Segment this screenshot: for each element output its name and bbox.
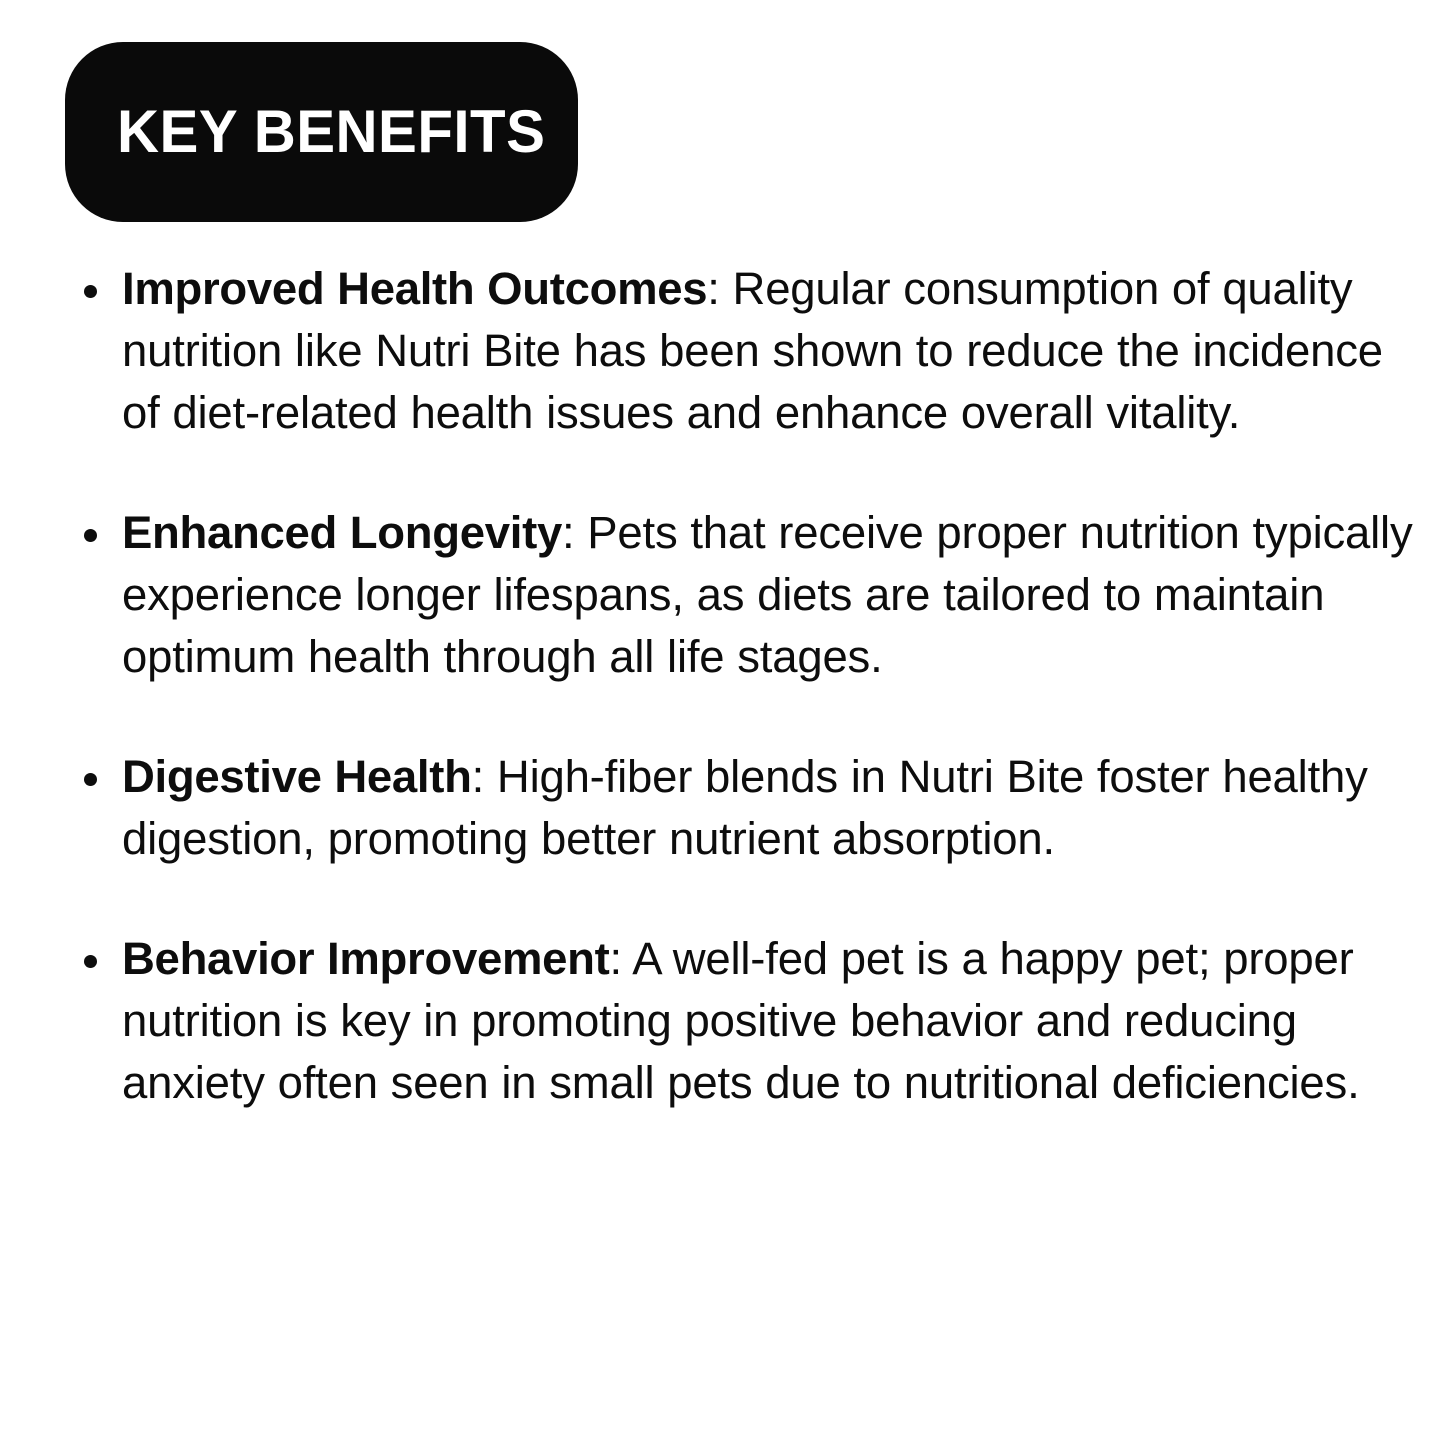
benefit-term: Behavior Improvement [122, 933, 609, 984]
key-benefits-badge-label: KEY BENEFITS [117, 102, 545, 162]
benefit-term: Improved Health Outcomes [122, 263, 707, 314]
key-benefits-page: KEY BENEFITS Improved Health Outcomes: R… [0, 0, 1445, 1445]
list-item: Improved Health Outcomes: Regular consum… [68, 258, 1413, 444]
bullet-dot-icon [84, 285, 97, 298]
list-item: Behavior Improvement: A well-fed pet is … [68, 928, 1413, 1114]
benefit-separator: : [707, 263, 732, 314]
benefit-separator: : [609, 933, 632, 984]
benefits-list: Improved Health Outcomes: Regular consum… [68, 258, 1413, 1114]
list-item: Digestive Health: High-fiber blends in N… [68, 746, 1413, 870]
bullet-dot-icon [84, 773, 97, 786]
benefit-term: Enhanced Longevity [122, 507, 562, 558]
benefit-separator: : [472, 751, 497, 802]
key-benefits-badge: KEY BENEFITS [65, 42, 578, 222]
benefit-separator: : [562, 507, 587, 558]
bullet-dot-icon [84, 955, 97, 968]
bullet-dot-icon [84, 529, 97, 542]
benefit-term: Digestive Health [122, 751, 472, 802]
list-item: Enhanced Longevity: Pets that receive pr… [68, 502, 1413, 688]
